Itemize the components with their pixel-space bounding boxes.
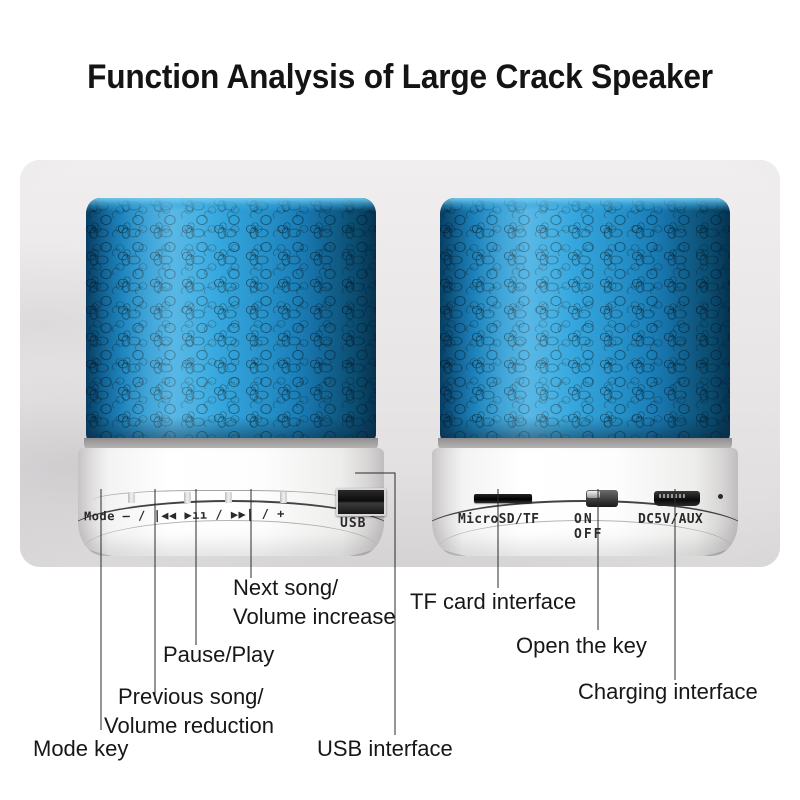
callout-usb-interface: USB interface — [317, 735, 453, 762]
callout-tf-card-interface-line1: TF card interface — [410, 589, 576, 614]
infographic-root: Function Analysis of Large Crack Speaker — [0, 0, 800, 800]
callout-usb-interface-line1: USB interface — [317, 736, 453, 761]
callout-tf-card-interface: TF card interface — [410, 588, 576, 615]
page-title: Function Analysis of Large Crack Speaker — [28, 58, 772, 97]
callout-previous-song: Previous song/ Volume reduction — [118, 682, 274, 740]
callout-next-song-line1: Next song/ — [233, 575, 338, 600]
callout-mode-key: Mode key — [33, 735, 128, 762]
callout-open-the-key: Open the key — [516, 632, 647, 659]
product-photo: Mode – / |◀◀ ▶ıı / ▶▶| / + USB MicroSD — [20, 160, 780, 567]
callout-mode-key-line1: Mode key — [33, 736, 128, 761]
callout-pause-play-line1: Pause/Play — [163, 642, 274, 667]
callout-pause-play: Pause/Play — [163, 641, 274, 668]
callout-previous-song-line2: Volume reduction — [104, 711, 274, 740]
callout-charging-interface: Charging interface — [578, 678, 758, 705]
photo-vignette — [20, 160, 780, 567]
callout-next-song: Next song/ Volume increase — [233, 573, 396, 631]
callout-previous-song-line1: Previous song/ — [118, 684, 264, 709]
callout-charging-interface-line1: Charging interface — [578, 679, 758, 704]
callout-next-song-line2: Volume increase — [233, 602, 396, 631]
callout-open-the-key-line1: Open the key — [516, 633, 647, 658]
